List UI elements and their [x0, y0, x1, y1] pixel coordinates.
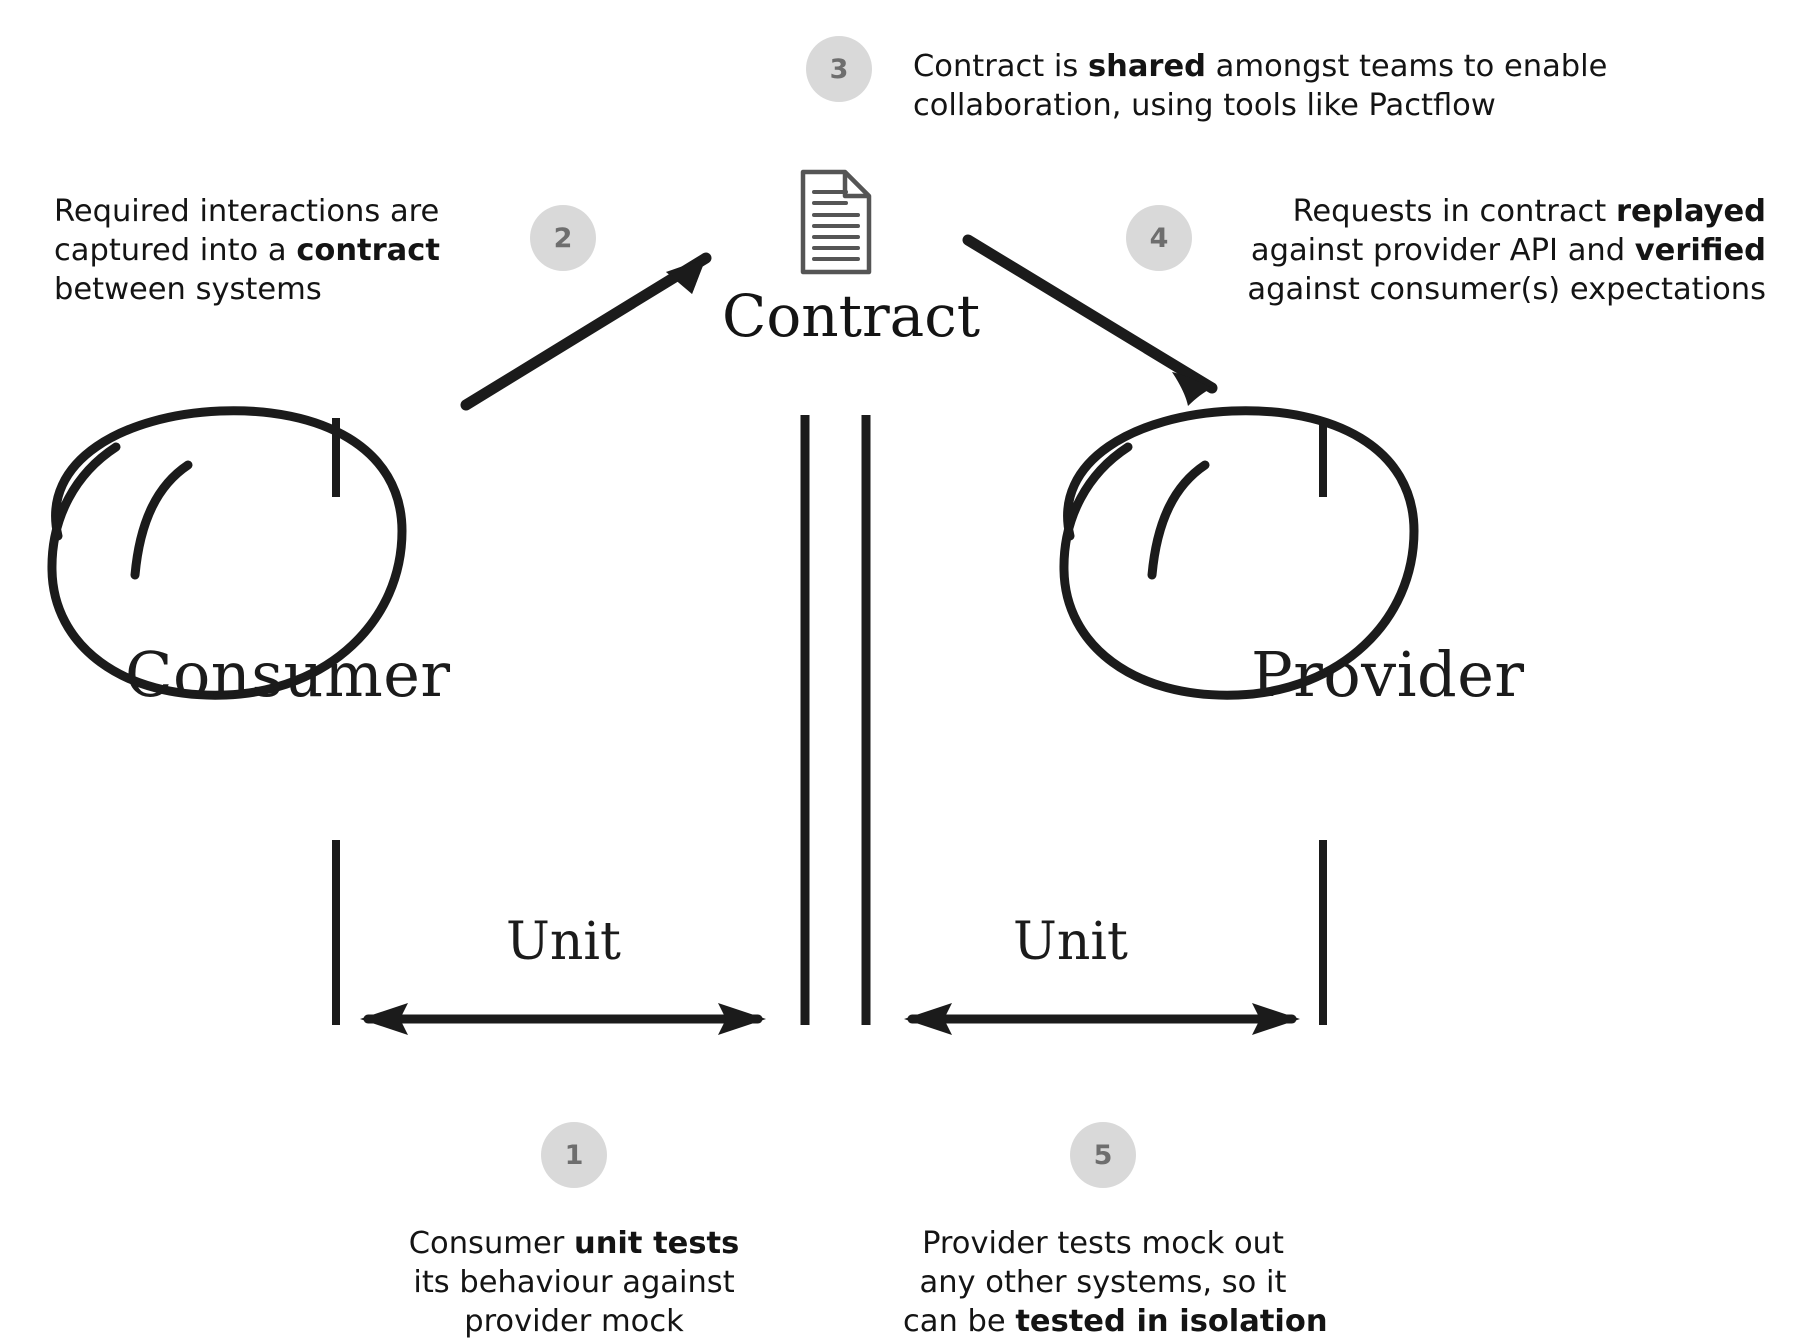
consumer-ellipse-overshoot [135, 465, 188, 575]
step-note-5-line-3: can be tested in isolation [903, 1302, 1303, 1341]
step-note-4-line-3: against consumer(s) expectations [1247, 270, 1766, 309]
unit-arrow-right [904, 1003, 1300, 1035]
step-note-1-line-1: Consumer unit tests [374, 1224, 774, 1263]
provider-label: Provider [1251, 638, 1525, 711]
step-badge-4[interactable]: 4 [1126, 205, 1192, 271]
step-note-5-line-1: Provider tests mock out [903, 1224, 1303, 1263]
consumer-label: Consumer [125, 638, 451, 711]
step-note-2-line-1: Required interactions are [54, 192, 440, 231]
step-note-3-line-1: Contract is shared amongst teams to enab… [913, 47, 1607, 86]
contract-label: Contract [722, 282, 980, 350]
unit-label-right: Unit [1013, 912, 1128, 972]
step-note-1-line-3: provider mock [374, 1302, 774, 1341]
arrow-consumer-to-contract [466, 258, 706, 405]
step-badge-3[interactable]: 3 [806, 36, 872, 102]
provider-ellipse-overshoot [1152, 465, 1205, 575]
step-note-5: Provider tests mock out any other system… [903, 1224, 1303, 1342]
unit-arrow-left [360, 1003, 766, 1035]
step-note-2: Required interactions are captured into … [54, 192, 440, 310]
unit-label-left: Unit [506, 912, 621, 972]
step-note-2-line-3: between systems [54, 270, 440, 309]
step-note-4: Requests in contract replayed against pr… [1247, 192, 1766, 310]
step-note-2-line-2: captured into a contract [54, 231, 440, 270]
diagram-canvas: 3 Contract is shared amongst teams to en… [0, 0, 1799, 1342]
step-note-4-line-2: against provider API and verified [1247, 231, 1766, 270]
step-badge-2[interactable]: 2 [530, 205, 596, 271]
step-badge-5[interactable]: 5 [1070, 1122, 1136, 1188]
step-note-1: Consumer unit tests its behaviour agains… [374, 1224, 774, 1342]
step-note-4-line-1: Requests in contract replayed [1247, 192, 1766, 231]
step-note-3-line-2: collaboration, using tools like Pactflow [913, 86, 1607, 125]
step-note-5-line-2: any other systems, so it [903, 1263, 1303, 1302]
document-icon [803, 172, 869, 272]
step-note-1-line-2: its behaviour against [374, 1263, 774, 1302]
step-badge-1[interactable]: 1 [541, 1122, 607, 1188]
step-note-3: Contract is shared amongst teams to enab… [913, 47, 1607, 125]
